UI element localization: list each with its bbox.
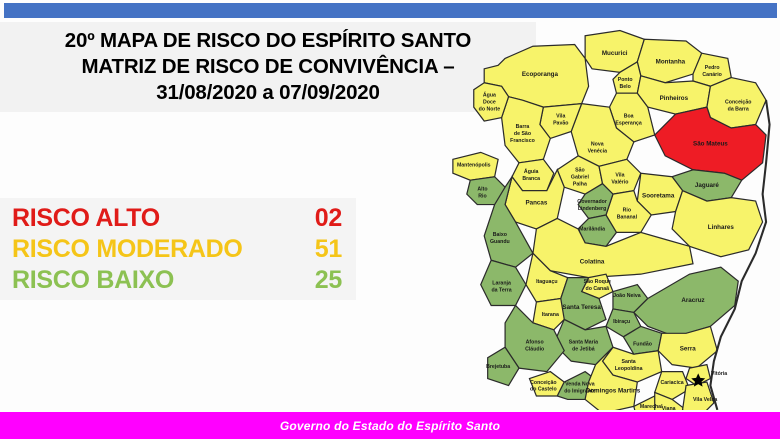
risk-map-infographic: 20º MAPA DE RISCO DO ESPÍRITO SANTO MATR…: [0, 0, 780, 439]
legend-label-low-risk: RISCO BAIXO: [12, 265, 174, 296]
title-line-2: MATRIZ DE RISCO DE CONVIVÊNCIA –: [82, 54, 455, 80]
mun-mantenopolis: [453, 152, 498, 180]
map-svg: Mucurici Montanha Pedro Canário Ecoporan…: [432, 20, 780, 410]
legend-row-high-risk: RISCO ALTO 02: [0, 203, 356, 234]
legend-count-low-risk: 25: [315, 265, 342, 296]
mun-barra-de-sao-francisco: [502, 97, 551, 163]
map-label-vitoria: Vitória: [711, 371, 727, 377]
mun-laranja-da-terra: [481, 260, 526, 305]
footer-bar: Governo do Estado do Espírito Santo: [0, 412, 780, 439]
title-line-3: 31/08/2020 a 07/09/2020: [156, 80, 379, 106]
title-line-1: 20º MAPA DE RISCO DO ESPÍRITO SANTO: [65, 28, 471, 54]
top-accent-bar: [4, 3, 777, 18]
legend-label-moderate-risk: RISCO MODERADO: [12, 234, 243, 265]
footer-text: Governo do Estado do Espírito Santo: [280, 419, 500, 433]
espirito-santo-risk-map: Mucurici Montanha Pedro Canário Ecoporan…: [432, 20, 780, 410]
legend-count-high-risk: 02: [315, 203, 342, 234]
mun-vila-velha: [683, 382, 714, 410]
legend-count-moderate-risk: 51: [315, 234, 342, 265]
risk-legend: RISCO ALTO 02 RISCO MODERADO 51 RISCO BA…: [0, 198, 356, 300]
legend-label-high-risk: RISCO ALTO: [12, 203, 160, 234]
mun-montanha: [637, 39, 701, 82]
legend-row-moderate-risk: RISCO MODERADO 51: [0, 234, 356, 265]
legend-row-low-risk: RISCO BAIXO 25: [0, 265, 356, 296]
mun-aracruz: [634, 267, 738, 337]
